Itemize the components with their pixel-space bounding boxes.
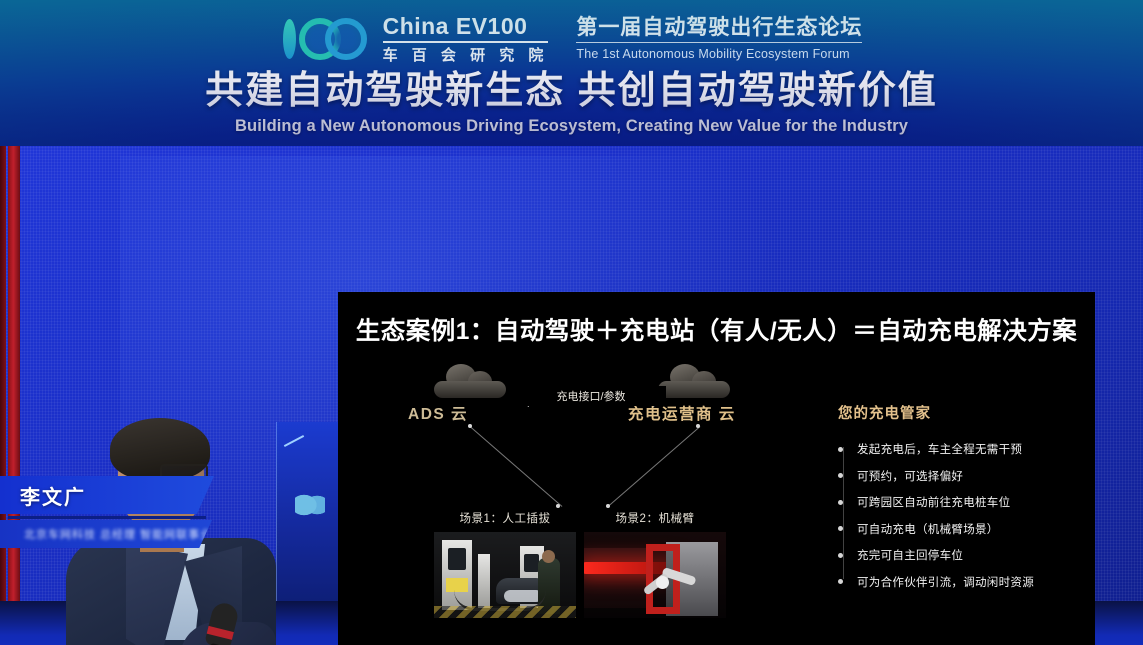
- bullet-dot-icon: [838, 553, 843, 558]
- connector-line: [470, 426, 563, 507]
- scene-photos: 场景1：人工插拔 场景2：机械臂: [434, 510, 734, 616]
- list-item: 可跨园区自动前往充电桩车位: [838, 494, 1078, 510]
- event-title-en: Building a New Autonomous Driving Ecosys…: [0, 117, 1143, 136]
- scene-2: 场景2：机械臂: [584, 510, 726, 618]
- bullet-dot-icon: [838, 473, 843, 478]
- scene-2-label: 场景2：机械臂: [584, 510, 726, 526]
- bullet-dot-icon: [838, 526, 843, 531]
- robot-arm-charging-photo: [584, 532, 726, 618]
- forum-title-en: The 1st Autonomous Mobility Ecosystem Fo…: [576, 43, 862, 61]
- slide-title: 生态案例1：自动驾驶＋充电站（有人/无人）＝自动充电解决方案: [338, 312, 1095, 347]
- benefits-title: 您的充电管家: [838, 402, 1078, 423]
- benefit-text: 可自动充电（机械臂场景）: [857, 521, 999, 537]
- forum-name-block: 第一届自动驾驶出行生态论坛 The 1st Autonomous Mobilit…: [576, 17, 862, 61]
- lower-third-secondary-bar: 北京车网科技 总经理 智能网联事业部: [0, 520, 212, 548]
- scene-1: 场景1：人工插拔: [434, 510, 576, 618]
- ev100-mark-icon: [281, 16, 369, 62]
- speaker-name: 李文广: [0, 481, 86, 510]
- benefit-text: 可为合作伙伴引流，调动闲时资源: [857, 574, 1034, 590]
- benefits-panel: 您的充电管家 发起充电后，车主全程无需干预 可预约，可选择偏好 可跨园区自动前往…: [838, 402, 1078, 600]
- bullet-dot-icon: [838, 579, 843, 584]
- cloud-link-arrow: 充电接口/参数: [516, 388, 666, 414]
- list-item: 充完可自主回停车位: [838, 547, 1078, 563]
- bullet-dot-icon: [838, 500, 843, 505]
- benefit-text: 发起充电后，车主全程无需干预: [857, 441, 1022, 457]
- benefit-text: 可预约，可选择偏好: [857, 468, 963, 484]
- benefit-text: 充完可自主回停车位: [857, 547, 963, 563]
- presentation-screen: 生态案例1：自动驾驶＋充电站（有人/无人）＝自动充电解决方案 ADS 云 充电运…: [338, 292, 1095, 645]
- list-item: 可自动充电（机械臂场景）: [838, 521, 1078, 537]
- china-ev100-logo: China EV100 车 百 会 研 究 院: [281, 15, 549, 63]
- ads-cloud-icon: [434, 368, 506, 398]
- bullet-dot-icon: [838, 447, 843, 452]
- lower-third-rule: [8, 516, 206, 519]
- manual-plug-charging-photo: [434, 532, 576, 618]
- header-main-title: 共建自动驾驶新生态 共创自动驾驶新价值 Building a New Auton…: [0, 72, 1143, 136]
- cloud-link-label: 充电接口/参数: [516, 386, 666, 406]
- forum-title-cn: 第一届自动驾驶出行生态论坛: [576, 17, 862, 43]
- list-item: 可为合作伙伴引流，调动闲时资源: [838, 574, 1078, 590]
- operator-cloud-icon: [658, 368, 730, 398]
- event-header-banner: China EV100 车 百 会 研 究 院 第一届自动驾驶出行生态论坛 Th…: [0, 0, 1143, 146]
- event-title-cn: 共建自动驾驶新生态 共创自动驾驶新价值: [0, 72, 1143, 112]
- logo-cn-text: 车 百 会 研 究 院: [383, 43, 549, 63]
- header-logo-row: China EV100 车 百 会 研 究 院 第一届自动驾驶出行生态论坛 Th…: [0, 14, 1143, 64]
- lower-third-nameplate: 李文广 北京车网科技 总经理 智能网联事业部: [0, 476, 230, 548]
- scene-1-label: 场景1：人工插拔: [434, 510, 576, 526]
- broadcast-frame: China EV100 车 百 会 研 究 院 第一届自动驾驶出行生态论坛 Th…: [0, 0, 1143, 645]
- lower-third-primary-bar: 李文广: [0, 476, 214, 514]
- speaker-subtitle: 北京车网科技 总经理 智能网联事业部: [0, 526, 224, 542]
- list-item: 发起充电后，车主全程无需干预: [838, 441, 1078, 457]
- logo-en-text: China EV100: [383, 15, 549, 43]
- connector-line: [608, 426, 701, 507]
- list-item: 可预约，可选择偏好: [838, 468, 1078, 484]
- stage-room: 李文广 北京车网科技 总经理 智能网联事业部 生态案例1：自动驾驶＋充电站（有人…: [0, 146, 1143, 645]
- benefits-list: 发起充电后，车主全程无需干预 可预约，可选择偏好 可跨园区自动前往充电桩车位 可…: [838, 441, 1078, 590]
- benefit-text: 可跨园区自动前往充电桩车位: [857, 494, 1010, 510]
